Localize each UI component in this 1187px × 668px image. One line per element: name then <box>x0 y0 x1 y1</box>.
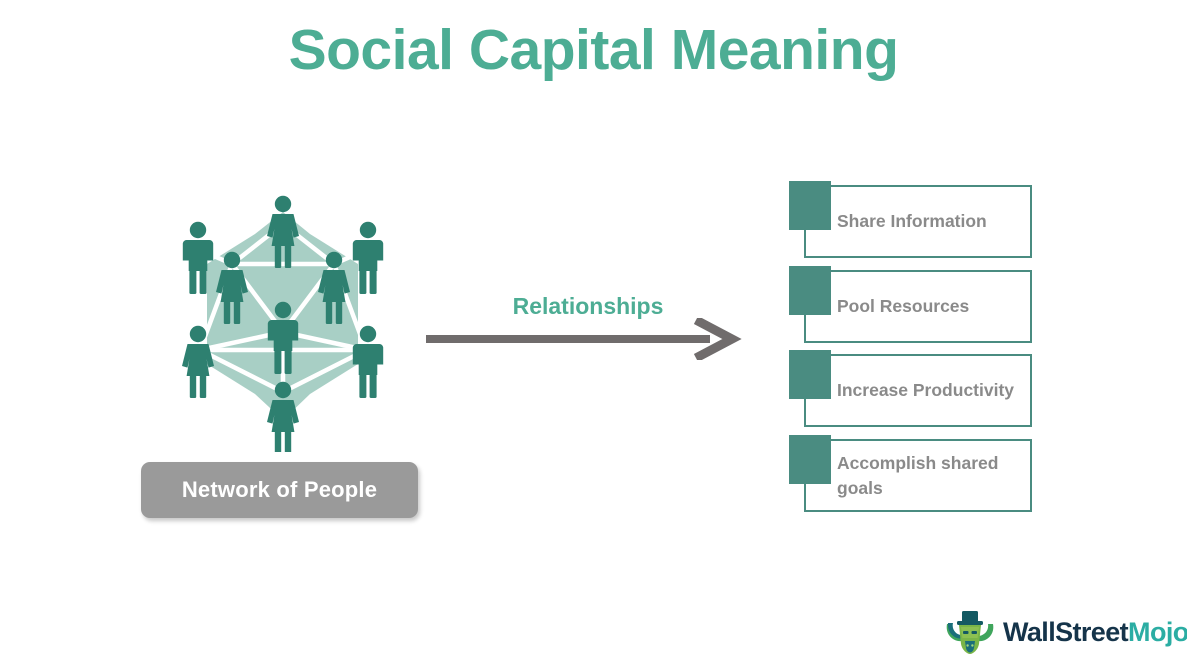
outcome-chip-icon <box>789 435 831 484</box>
network-of-people-diagram <box>162 172 402 452</box>
relationships-label: Relationships <box>436 293 740 320</box>
outcome-label: Pool Resources <box>837 270 1027 343</box>
outcome-label: Increase Productivity <box>837 354 1027 427</box>
network-of-people-label: Network of People <box>141 462 418 518</box>
page-title: Social Capital Meaning <box>0 18 1187 84</box>
brand-name-primary: WallStreet <box>1003 617 1128 647</box>
brand-logo[interactable]: WallStreetMojo <box>943 607 1183 657</box>
brand-name-secondary: Mojo <box>1128 617 1187 647</box>
outcome-chip-icon <box>789 181 831 230</box>
network-of-people-label-text: Network of People <box>182 477 377 503</box>
brand-wordmark: WallStreetMojo <box>1003 617 1187 648</box>
right-arrow-icon <box>424 318 744 360</box>
bull-with-top-hat-icon <box>943 608 997 656</box>
outcome-label: Share Information <box>837 185 1027 258</box>
outcome-label: Accomplish shared goals <box>837 439 1027 512</box>
slide-canvas: Social Capital Meaning <box>0 0 1187 668</box>
outcome-chip-icon <box>789 266 831 315</box>
outcome-chip-icon <box>789 350 831 399</box>
